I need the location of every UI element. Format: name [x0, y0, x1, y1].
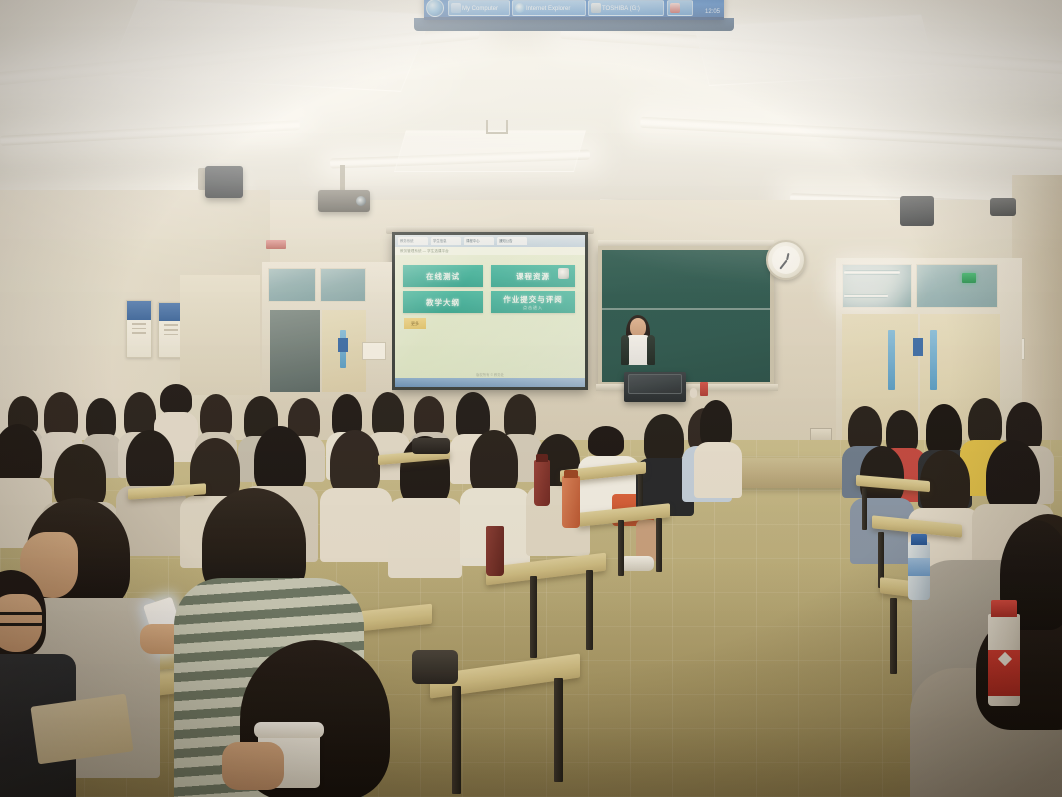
door-handle[interactable] [888, 330, 895, 390]
podium-monitor[interactable] [628, 374, 682, 394]
overhead-monitor[interactable]: My Computer Internet Explorer TOSHIBA (G… [424, 0, 724, 20]
taskbar-item-label: TOSHIBA (G:) [602, 6, 640, 12]
screen-tile-sublabel: 点击进入 [523, 305, 543, 311]
student-hair [968, 398, 1002, 446]
bag-on-desk [412, 438, 450, 454]
student-hand [222, 742, 284, 790]
screen-footer-text: 版权所有 © 教务处 [395, 372, 585, 377]
student-hair [330, 430, 380, 496]
computer-mouse[interactable] [690, 388, 697, 398]
red-cup [700, 382, 708, 396]
taskbar-item-label: My Computer [462, 6, 498, 12]
screen-chip-button[interactable]: 更多 [404, 318, 426, 329]
student-hair [126, 430, 174, 492]
door-plate-icon [913, 338, 923, 356]
wall-clock [766, 240, 806, 280]
student-hair [986, 440, 1040, 512]
screen-tile[interactable]: 在线测试 [403, 265, 483, 287]
lecturer-vest [621, 335, 629, 365]
screen-tile[interactable]: 教学大纲 [403, 291, 483, 313]
chalkboard-divider [602, 308, 770, 310]
bag-on-desk [412, 650, 458, 684]
taskbar-item-label: Internet Explorer [526, 6, 570, 12]
browser-address-bar[interactable]: 教务管理系统 — 学生选课平台 [395, 247, 585, 255]
student-body [694, 442, 742, 498]
student-hair [254, 426, 306, 494]
security-camera [990, 198, 1016, 216]
student-body [388, 498, 462, 578]
browser-tab-bar: 教务系统 学生信息 课程中心 通知公告 [395, 235, 585, 247]
taskbar-item[interactable] [667, 0, 693, 16]
screen-taskbar [395, 378, 585, 387]
desk-leg [618, 520, 624, 576]
bottle-cap [911, 534, 927, 545]
taskbar-clock: 12:05 [705, 9, 720, 15]
taskbar-item[interactable]: TOSHIBA (G:) [588, 0, 664, 16]
notice-header [127, 301, 151, 320]
browser-tab[interactable]: 教务系统 [398, 237, 428, 245]
lecturer [620, 318, 656, 380]
media-icon [670, 3, 680, 13]
screen-hook [486, 120, 508, 134]
student-hair [470, 430, 518, 496]
student-hair [926, 404, 962, 456]
wall-speaker [900, 196, 934, 226]
browser-icon [515, 3, 525, 13]
fluorescent-light [640, 117, 1062, 150]
lock-icon [558, 268, 569, 279]
student-body [320, 488, 392, 562]
exit-sign [962, 273, 976, 283]
mug-lid [254, 722, 324, 738]
left-wall-panel [180, 275, 260, 395]
desk-leg [530, 576, 537, 658]
browser-tab[interactable]: 学生信息 [431, 237, 461, 245]
browser-tab[interactable]: 通知公告 [497, 237, 527, 245]
thermos-flask[interactable] [534, 460, 550, 506]
screen-tile-label: 在线测试 [426, 271, 460, 282]
bottle-cap [564, 470, 578, 478]
desk-leg [586, 570, 593, 650]
door-plate-icon [338, 338, 348, 352]
door-transom-glass [320, 268, 366, 302]
fluorescent-light [844, 294, 888, 298]
bottle-label [908, 558, 930, 576]
screen-tile[interactable]: 课程资源 [491, 265, 575, 287]
wall-speaker [205, 166, 243, 198]
lecturer-vest [647, 335, 655, 365]
student-hair [160, 384, 192, 414]
taskbar-item[interactable]: Internet Explorer [512, 0, 586, 16]
screen-tile-label: 课程资源 [516, 271, 550, 282]
bottle-cap [536, 454, 548, 462]
student-hair [0, 424, 42, 486]
door-notice [362, 342, 386, 360]
thermos-flask[interactable] [562, 476, 580, 528]
fluorescent-light [0, 120, 300, 146]
door-transom-glass [268, 268, 316, 302]
desk-leg [452, 686, 461, 794]
thermos-flask[interactable] [486, 526, 504, 576]
screen-tile[interactable]: 作业提交与评阅 点击进入 [491, 291, 575, 313]
clock-face [772, 246, 800, 274]
desk-leg [862, 488, 867, 530]
eyeglasses-icon [0, 612, 46, 626]
student-hair [700, 400, 732, 448]
desk-leg [890, 598, 897, 674]
classroom-photo: My Computer Internet Explorer TOSHIBA (G… [0, 0, 1062, 797]
sneaker [620, 556, 654, 571]
projector-lens-icon [356, 196, 366, 206]
usb-drive-icon [591, 3, 601, 13]
projection-screen[interactable]: 教务系统 学生信息 课程中心 通知公告 教务管理系统 — 学生选课平台 在线测试… [392, 232, 588, 390]
bottle-cap [991, 600, 1017, 617]
emergency-light [266, 240, 286, 249]
left-door-leaf-open[interactable] [270, 310, 320, 392]
start-orb-icon[interactable] [426, 0, 444, 17]
notice-board [126, 300, 152, 358]
fluorescent-light [844, 270, 900, 275]
student-hair [588, 426, 624, 456]
desk-leg [656, 518, 662, 572]
student-hair [644, 414, 684, 464]
door-handle[interactable] [930, 330, 937, 390]
screen-tile-label: 教学大纲 [426, 297, 460, 308]
desk-leg [554, 678, 563, 782]
screen-tile-label: 作业提交与评阅 [503, 294, 563, 305]
taskbar-item[interactable]: My Computer [448, 0, 510, 16]
door-transom-glass [916, 264, 998, 308]
projector-mount-pole [340, 165, 345, 191]
clock-minute-hand [779, 260, 787, 269]
computer-icon [451, 3, 461, 13]
browser-tab[interactable]: 课程中心 [464, 237, 494, 245]
